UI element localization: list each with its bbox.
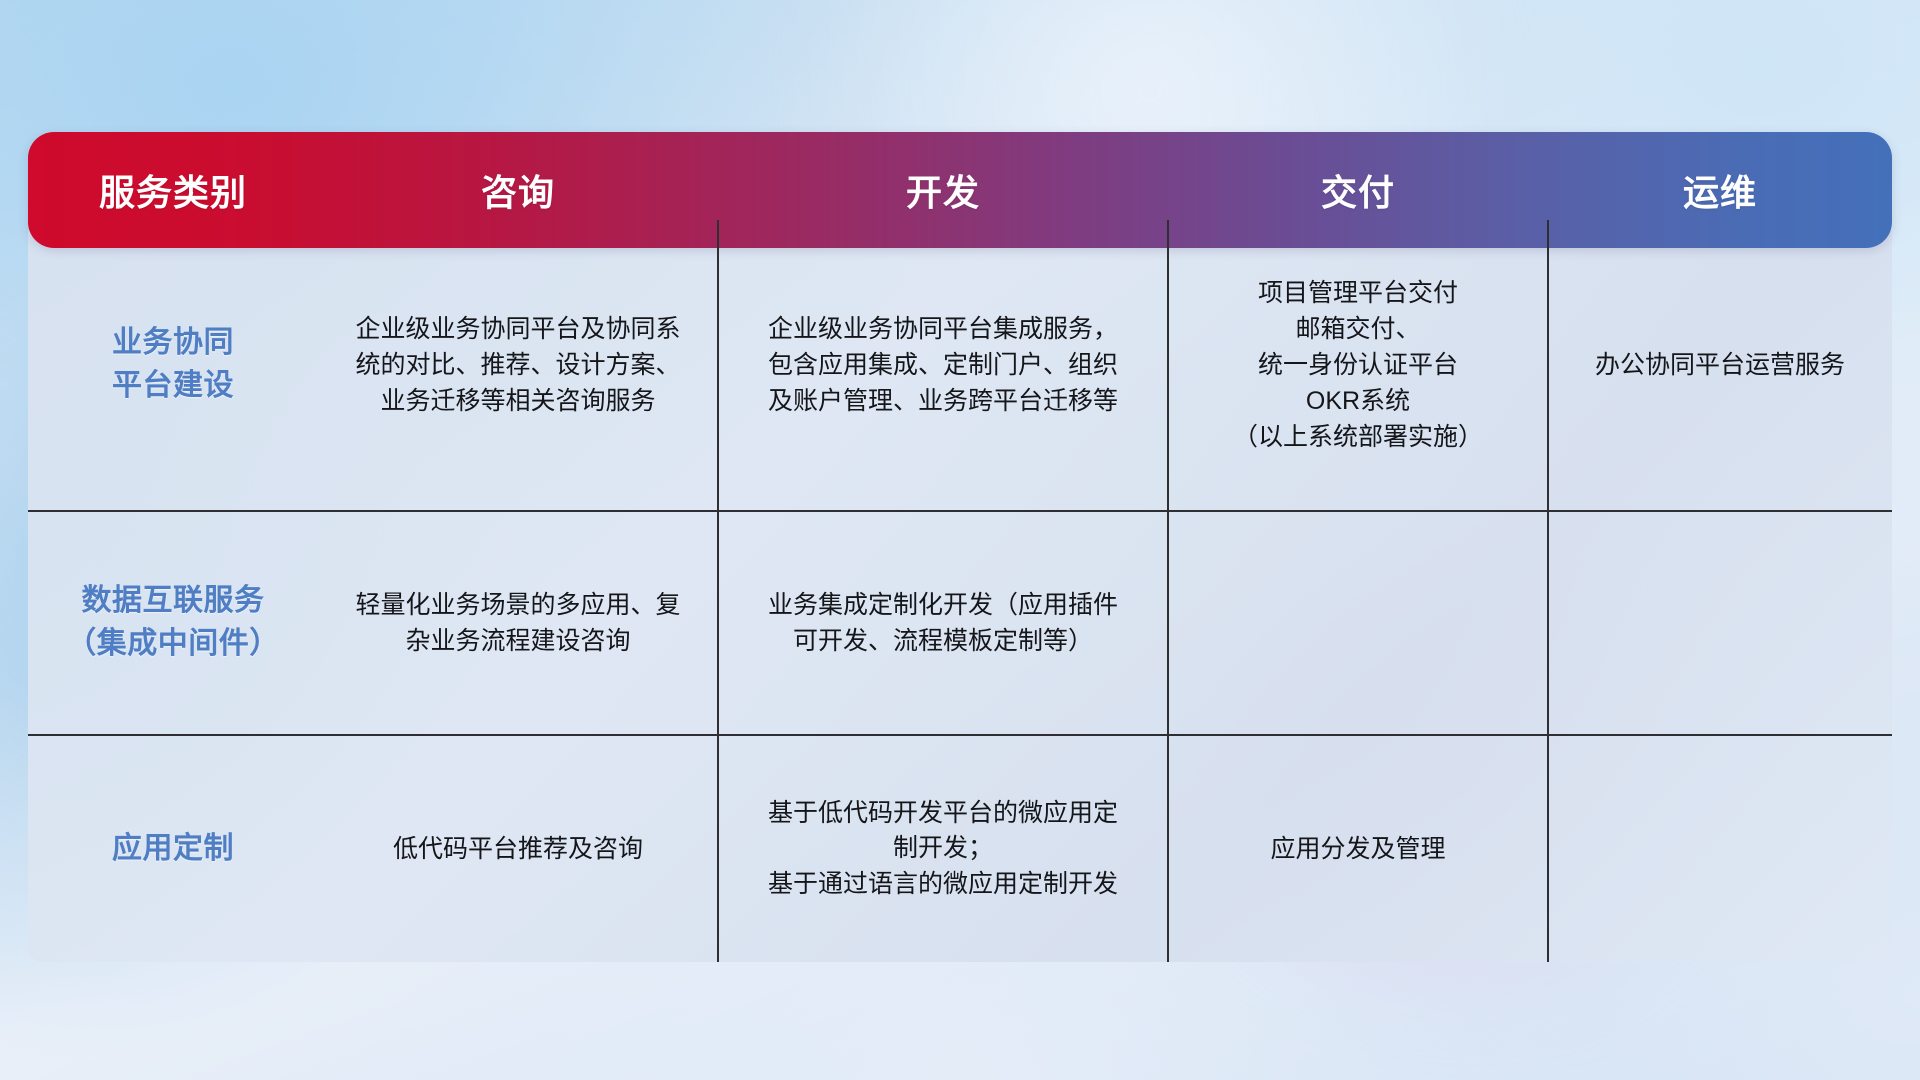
cell-consulting: 轻量化业务场景的多应用、复 杂业务流程建设咨询 xyxy=(318,512,718,734)
cell-delivery: 项目管理平台交付 邮箱交付、 统一身份认证平台 OKR系统 （以上系统部署实施） xyxy=(1168,220,1548,510)
cell-consulting: 企业级业务协同平台及协同系 统的对比、推荐、设计方案、 业务迁移等相关咨询服务 xyxy=(318,220,718,510)
table-row: 业务协同 平台建设 企业级业务协同平台及协同系 统的对比、推荐、设计方案、 业务… xyxy=(28,220,1892,510)
consulting-text: 低代码平台推荐及咨询 xyxy=(393,831,643,867)
cell-category: 应用定制 xyxy=(28,736,318,962)
column-header-operations: 运维 xyxy=(1548,164,1892,216)
cell-development: 基于低代码开发平台的微应用定 制开发； 基于通过语言的微应用定制开发 xyxy=(718,736,1168,962)
cell-category: 业务协同 平台建设 xyxy=(28,220,318,510)
operations-text: 办公协同平台运营服务 xyxy=(1595,347,1845,383)
development-text: 企业级业务协同平台集成服务， 包含应用集成、定制门户、组织 及账户管理、业务跨平… xyxy=(768,311,1118,419)
delivery-text: 项目管理平台交付 邮箱交付、 统一身份认证平台 OKR系统 （以上系统部署实施） xyxy=(1233,275,1483,455)
cell-consulting: 低代码平台推荐及咨询 xyxy=(318,736,718,962)
column-header-category: 服务类别 xyxy=(28,164,318,216)
consulting-text: 轻量化业务场景的多应用、复 杂业务流程建设咨询 xyxy=(355,587,680,659)
column-header-development: 开发 xyxy=(718,164,1168,216)
table-row: 应用定制 低代码平台推荐及咨询 基于低代码开发平台的微应用定 制开发； 基于通过… xyxy=(28,736,1892,962)
delivery-text: 应用分发及管理 xyxy=(1270,831,1445,867)
cell-operations xyxy=(1548,736,1892,962)
category-label: 应用定制 xyxy=(112,828,234,871)
table-grid: 业务协同 平台建设 企业级业务协同平台及协同系 统的对比、推荐、设计方案、 业务… xyxy=(28,220,1892,962)
consulting-text: 企业级业务协同平台及协同系 统的对比、推荐、设计方案、 业务迁移等相关咨询服务 xyxy=(355,311,680,419)
column-header-delivery: 交付 xyxy=(1168,164,1548,216)
service-matrix-table: 服务类别 咨询 开发 交付 运维 业务协同 平台建设 企业级业务协同平台及协同系… xyxy=(28,132,1892,962)
cell-delivery: 应用分发及管理 xyxy=(1168,736,1548,962)
column-header-consulting: 咨询 xyxy=(318,164,718,216)
cell-category: 数据互联服务 （集成中间件） xyxy=(28,512,318,734)
cell-operations xyxy=(1548,512,1892,734)
cell-delivery xyxy=(1168,512,1548,734)
cell-development: 企业级业务协同平台集成服务， 包含应用集成、定制门户、组织 及账户管理、业务跨平… xyxy=(718,220,1168,510)
development-text: 业务集成定制化开发（应用插件 可开发、流程模板定制等） xyxy=(768,587,1118,659)
category-label: 业务协同 平台建设 xyxy=(112,322,234,407)
development-text: 基于低代码开发平台的微应用定 制开发； 基于通过语言的微应用定制开发 xyxy=(768,796,1118,903)
category-label: 数据互联服务 （集成中间件） xyxy=(66,580,280,665)
table-row: 数据互联服务 （集成中间件） 轻量化业务场景的多应用、复 杂业务流程建设咨询 业… xyxy=(28,512,1892,734)
cell-operations: 办公协同平台运营服务 xyxy=(1548,220,1892,510)
cell-development: 业务集成定制化开发（应用插件 可开发、流程模板定制等） xyxy=(718,512,1168,734)
